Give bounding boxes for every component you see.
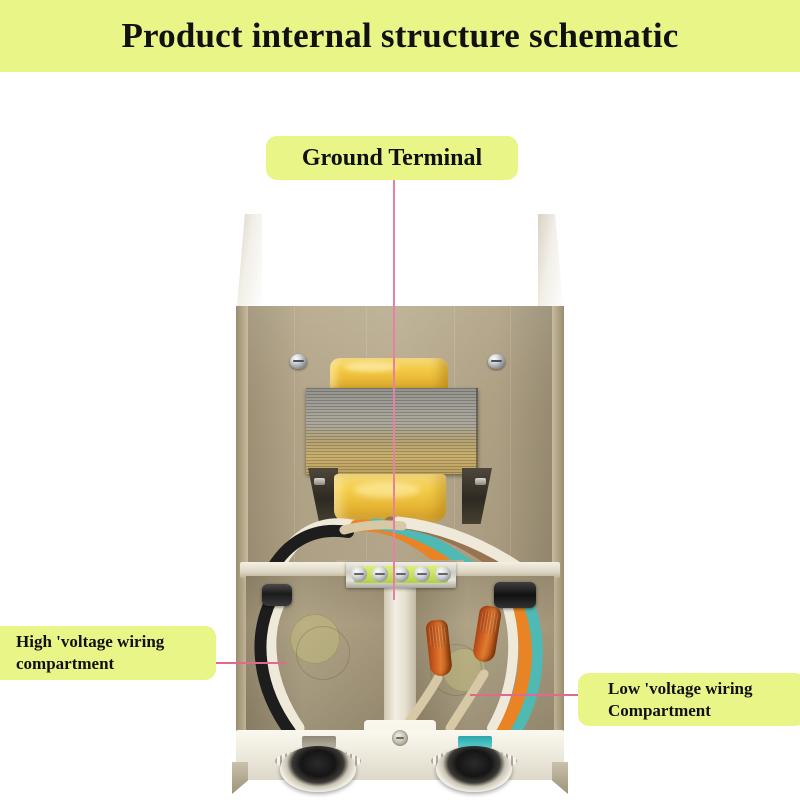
top-mounting-flange-right (538, 214, 564, 318)
callout-ground-terminal: Ground Terminal (266, 136, 518, 180)
water-port-left (280, 746, 356, 792)
callout-high-voltage-wiring-compartment: High 'voltage wiring compartment (0, 626, 216, 680)
leader-line-ground-terminal (393, 180, 395, 600)
ground-terminal-screw (351, 566, 367, 582)
cable-gland-right (494, 582, 536, 608)
leader-line-low-voltage (470, 694, 582, 696)
transformer-laminated-core (306, 388, 478, 474)
bottom-leg-right (552, 762, 568, 794)
ground-terminal-screw (414, 566, 430, 582)
ground-terminal-block (346, 562, 456, 588)
bracket-screw-right (475, 478, 486, 485)
schematic-page: Product internal structure schematic (0, 0, 800, 800)
ground-terminal-screw (393, 566, 409, 582)
leader-line-high-voltage (214, 662, 286, 664)
callout-low-voltage-wiring-compartment: Low 'voltage wiring Compartment (578, 673, 800, 726)
ground-terminal-screw (435, 566, 451, 582)
product-illustration (224, 206, 576, 794)
mounting-screw-right (488, 354, 505, 369)
ground-terminal-screw (372, 566, 388, 582)
page-title: Product internal structure schematic (0, 0, 800, 72)
callout-low-voltage-line-1: Low 'voltage wiring (608, 678, 800, 700)
top-mounting-flange-left (236, 214, 262, 318)
bracket-screw-left (314, 478, 325, 485)
mounting-screw-left (290, 354, 307, 369)
callout-high-voltage-line-1: High 'voltage wiring (16, 631, 216, 653)
callout-ground-terminal-line-1: Ground Terminal (302, 145, 482, 172)
faceplate-center-screw (392, 730, 408, 746)
transformer-coil-top (330, 358, 448, 392)
callout-low-voltage-line-2: Compartment (608, 700, 800, 722)
water-port-right (436, 746, 512, 792)
cable-gland-left (262, 584, 292, 606)
callout-high-voltage-line-2: compartment (16, 653, 216, 675)
bottom-leg-left (232, 762, 248, 794)
title-banner: Product internal structure schematic (0, 0, 800, 72)
